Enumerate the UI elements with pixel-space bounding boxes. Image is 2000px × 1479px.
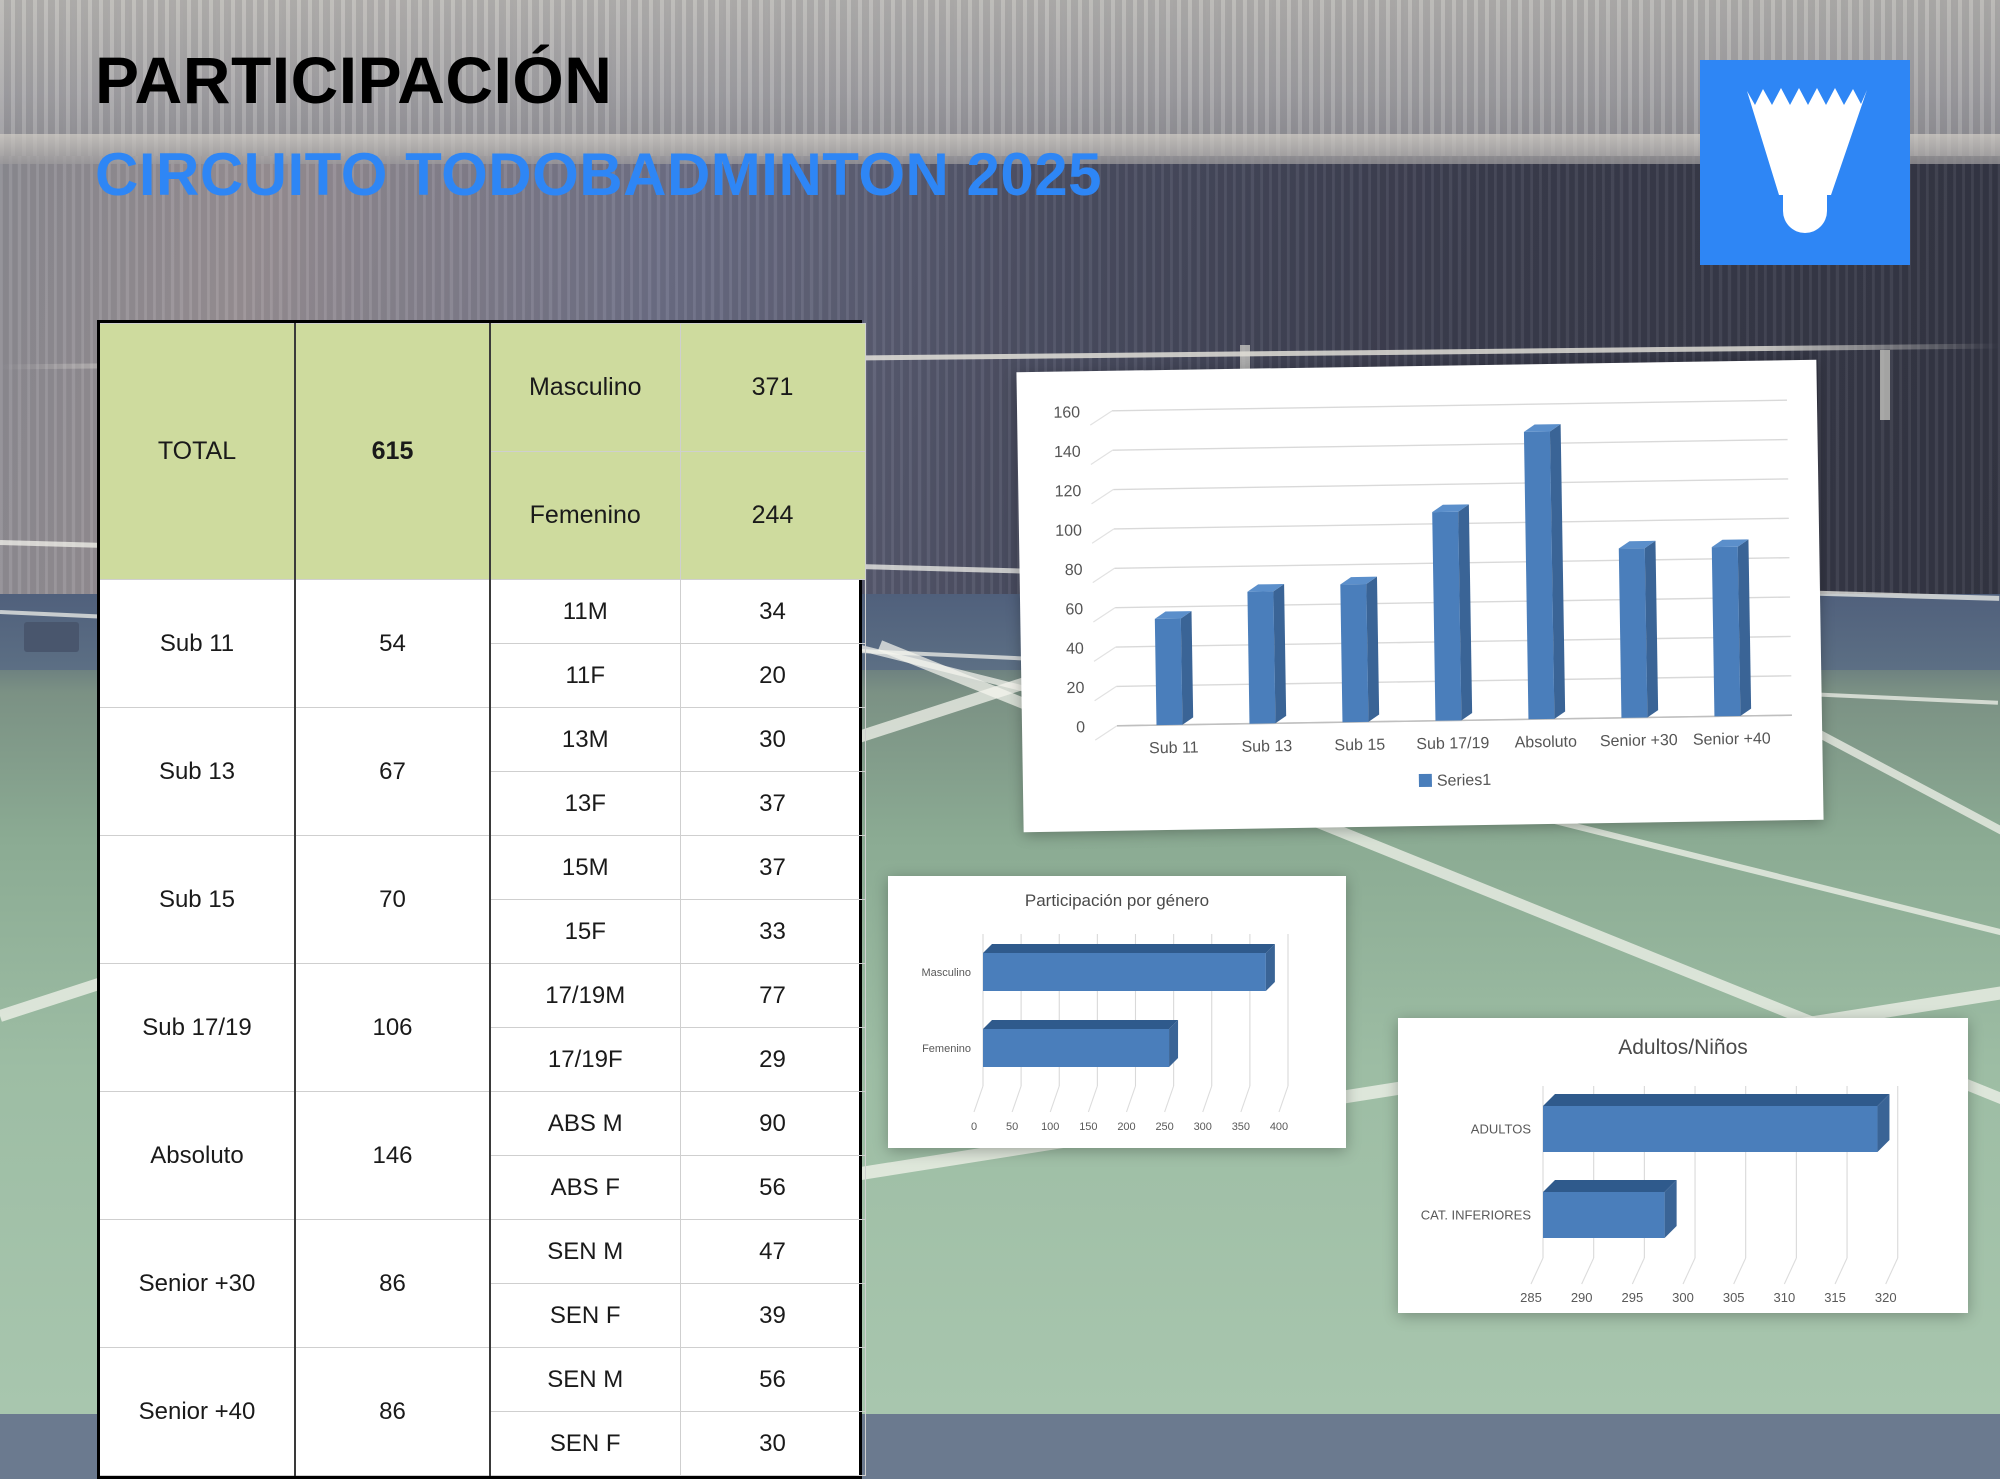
gender-value-masculino: 371 xyxy=(680,324,865,452)
table-row: Sub 115411M34 xyxy=(100,580,865,644)
bar-front xyxy=(1432,512,1461,721)
gridline-depth xyxy=(1093,568,1115,582)
x-tick-label: Sub 11 xyxy=(1149,739,1199,757)
bar-front xyxy=(1619,548,1648,718)
gridline-depth xyxy=(1165,1086,1174,1112)
net-post-right xyxy=(1880,350,1890,420)
gridline-depth xyxy=(1279,1086,1288,1112)
page-subtitle: CIRCUITO TODOBADMINTON 2025 xyxy=(95,140,1102,209)
table-row: Sub 17/1910617/19M77 xyxy=(100,964,865,1028)
subcat-label-5-f: SEN F xyxy=(490,1284,680,1348)
bar-front xyxy=(1712,547,1741,717)
gridline-depth xyxy=(1835,1258,1847,1284)
gender-label-femenino: Femenino xyxy=(490,452,680,580)
gridline-depth xyxy=(1090,411,1112,425)
gridline-depth xyxy=(1127,1086,1136,1112)
subcat-label-6-f: SEN F xyxy=(490,1412,680,1476)
x-tick-label: 0 xyxy=(971,1121,977,1133)
gridline-depth xyxy=(1531,1258,1543,1284)
gridline-depth xyxy=(1203,1086,1212,1112)
total-label: TOTAL xyxy=(100,324,295,580)
subcat-value-5-m: 47 xyxy=(680,1220,865,1284)
bar-side xyxy=(1273,584,1286,723)
bar-top xyxy=(983,944,1275,953)
gridline-depth xyxy=(1095,726,1117,740)
gender-value-femenino: 244 xyxy=(680,452,865,580)
bar-front xyxy=(1543,1106,1877,1152)
subcat-value-4-f: 56 xyxy=(680,1156,865,1220)
bar-top xyxy=(1543,1094,1889,1106)
gridline-depth xyxy=(1092,529,1114,543)
bar-front xyxy=(1247,591,1275,723)
subcat-value-0-m: 34 xyxy=(680,580,865,644)
table-row: Senior +3086SEN M47 xyxy=(100,1220,865,1284)
y-tick-label: 80 xyxy=(1065,562,1083,579)
category-label-3: Sub 17/19 xyxy=(100,964,295,1092)
bar-top xyxy=(983,1020,1178,1029)
subcat-value-2-m: 37 xyxy=(680,836,865,900)
category-count-6: 86 xyxy=(295,1348,490,1476)
gridline-depth xyxy=(1683,1258,1695,1284)
gridline-depth xyxy=(1093,608,1115,622)
x-tick-label: 400 xyxy=(1270,1121,1288,1133)
subcat-value-2-f: 33 xyxy=(680,900,865,964)
bar-side xyxy=(1366,577,1379,722)
chart-participation-by-category: 020406080100120140160 Sub 11Sub 13Sub 15… xyxy=(1016,360,1823,833)
category-label-5: Senior +30 xyxy=(100,1220,295,1348)
x-tick-label: 250 xyxy=(1155,1121,1173,1133)
table-row: Absoluto146ABS M90 xyxy=(100,1092,865,1156)
participation-table: TOTAL615Masculino371Femenino244Sub 11541… xyxy=(97,320,862,1479)
x-tick-label: 290 xyxy=(1571,1290,1593,1305)
gridline-depth xyxy=(1241,1086,1250,1112)
subcat-label-6-m: SEN M xyxy=(490,1348,680,1412)
x-tick-label: Sub 17/19 xyxy=(1416,735,1489,753)
category-label-6: Senior +40 xyxy=(100,1348,295,1476)
y-tick-label: 100 xyxy=(1055,522,1082,539)
bar-front xyxy=(1524,432,1555,720)
gridline-depth xyxy=(1632,1258,1644,1284)
subcat-value-4-m: 90 xyxy=(680,1092,865,1156)
gridline-depth xyxy=(1091,490,1113,504)
y-category-label: CAT. INFERIORES xyxy=(1421,1208,1532,1223)
y-tick-label: 60 xyxy=(1065,601,1083,618)
subcat-label-4-f: ABS F xyxy=(490,1156,680,1220)
subcat-label-3-m: 17/19M xyxy=(490,964,680,1028)
x-tick-label: 100 xyxy=(1041,1121,1059,1133)
y-category-label: ADULTOS xyxy=(1471,1122,1532,1137)
x-tick-label: 350 xyxy=(1232,1121,1250,1133)
x-tick-label: 320 xyxy=(1875,1290,1897,1305)
subcat-label-1-m: 13M xyxy=(490,708,680,772)
legend-swatch xyxy=(1419,774,1432,787)
gridline-depth xyxy=(1012,1086,1021,1112)
subcat-value-5-f: 39 xyxy=(680,1284,865,1348)
x-tick-label: 300 xyxy=(1672,1290,1694,1305)
category-label-1: Sub 13 xyxy=(100,708,295,836)
subcat-label-4-m: ABS M xyxy=(490,1092,680,1156)
x-tick-label: 200 xyxy=(1117,1121,1135,1133)
subcat-label-0-m: 11M xyxy=(490,580,680,644)
gridline xyxy=(1112,400,1787,411)
gridline-depth xyxy=(1094,647,1116,661)
chart-participation-by-gender: Participación por género MasculinoFemeni… xyxy=(888,876,1346,1148)
table-row: Sub 157015M37 xyxy=(100,836,865,900)
y-tick-label: 160 xyxy=(1053,404,1080,421)
table-row: Sub 136713M30 xyxy=(100,708,865,772)
gridline-depth xyxy=(1088,1086,1097,1112)
x-tick-label: 315 xyxy=(1824,1290,1846,1305)
gridline xyxy=(1113,479,1788,490)
subcat-label-0-f: 11F xyxy=(490,644,680,708)
bar-side xyxy=(1181,611,1194,725)
page-title: PARTICIPACIÓN xyxy=(95,42,612,118)
y-tick-label: 120 xyxy=(1054,483,1081,500)
subcat-label-3-f: 17/19F xyxy=(490,1028,680,1092)
y-category-label: Femenino xyxy=(922,1043,971,1055)
x-tick-label: 285 xyxy=(1520,1290,1542,1305)
y-tick-label: 140 xyxy=(1054,444,1081,461)
bar-front xyxy=(983,953,1266,991)
gridline-depth xyxy=(1050,1086,1059,1112)
subcat-label-5-m: SEN M xyxy=(490,1220,680,1284)
bar-front xyxy=(1543,1192,1665,1238)
y-tick-label: 0 xyxy=(1076,719,1085,736)
y-tick-label: 20 xyxy=(1066,680,1084,697)
x-tick-label: 300 xyxy=(1194,1121,1212,1133)
category-count-3: 106 xyxy=(295,964,490,1092)
x-tick-label: 150 xyxy=(1079,1121,1097,1133)
legend-label: Series1 xyxy=(1437,772,1492,790)
gender-label-masculino: Masculino xyxy=(490,324,680,452)
total-value: 615 xyxy=(295,324,490,580)
subcat-label-2-f: 15F xyxy=(490,900,680,964)
chart-adults-vs-children: Adultos/Niños ADULTOSCAT. INFERIORES 285… xyxy=(1398,1018,1968,1313)
x-tick-label: 305 xyxy=(1723,1290,1745,1305)
subcat-value-0-f: 20 xyxy=(680,644,865,708)
subcat-value-6-m: 56 xyxy=(680,1348,865,1412)
category-count-4: 146 xyxy=(295,1092,490,1220)
x-tick-label: 310 xyxy=(1774,1290,1796,1305)
court-equipment-box xyxy=(24,622,79,652)
x-tick-label: Absoluto xyxy=(1515,734,1578,752)
shuttlecock-icon xyxy=(1735,83,1875,243)
category-label-4: Absoluto xyxy=(100,1092,295,1220)
subcat-value-6-f: 30 xyxy=(680,1412,865,1476)
bar-top xyxy=(1543,1180,1677,1192)
table-row: Senior +4086SEN M56 xyxy=(100,1348,865,1412)
x-tick-label: Sub 13 xyxy=(1241,738,1292,756)
subcat-label-2-m: 15M xyxy=(490,836,680,900)
logo-badge xyxy=(1700,60,1910,265)
x-tick-label: 50 xyxy=(1006,1121,1018,1133)
subcat-value-1-m: 30 xyxy=(680,708,865,772)
category-count-1: 67 xyxy=(295,708,490,836)
gridline-depth xyxy=(1582,1258,1594,1284)
gridline-depth xyxy=(974,1086,983,1112)
gridline-depth xyxy=(1784,1258,1796,1284)
gridline-depth xyxy=(1886,1258,1898,1284)
y-category-label: Masculino xyxy=(921,967,971,979)
bar-front xyxy=(983,1029,1169,1067)
chart-adults-title: Adultos/Niños xyxy=(1618,1036,1748,1059)
subcat-value-1-f: 37 xyxy=(680,772,865,836)
category-count-2: 70 xyxy=(295,836,490,964)
chart-gender-title: Participación por género xyxy=(1025,891,1209,910)
category-count-5: 86 xyxy=(295,1220,490,1348)
x-tick-label: 295 xyxy=(1621,1290,1643,1305)
gridline-depth xyxy=(1734,1258,1746,1284)
category-label-2: Sub 15 xyxy=(100,836,295,964)
subcat-label-1-f: 13F xyxy=(490,772,680,836)
subcat-value-3-m: 77 xyxy=(680,964,865,1028)
table-row: TOTAL615Masculino371 xyxy=(100,324,865,452)
bar-front xyxy=(1155,618,1183,725)
subcat-value-3-f: 29 xyxy=(680,1028,865,1092)
x-tick-label: Senior +40 xyxy=(1693,731,1771,749)
y-tick-label: 40 xyxy=(1066,641,1084,658)
x-tick-label: Sub 15 xyxy=(1334,737,1385,755)
category-count-0: 54 xyxy=(295,580,490,708)
category-label-0: Sub 11 xyxy=(100,580,295,708)
gridline-depth xyxy=(1094,686,1116,700)
gridline xyxy=(1113,440,1788,451)
x-tick-label: Senior +30 xyxy=(1600,732,1678,750)
gridline-depth xyxy=(1091,450,1113,464)
bar-front xyxy=(1340,584,1368,722)
